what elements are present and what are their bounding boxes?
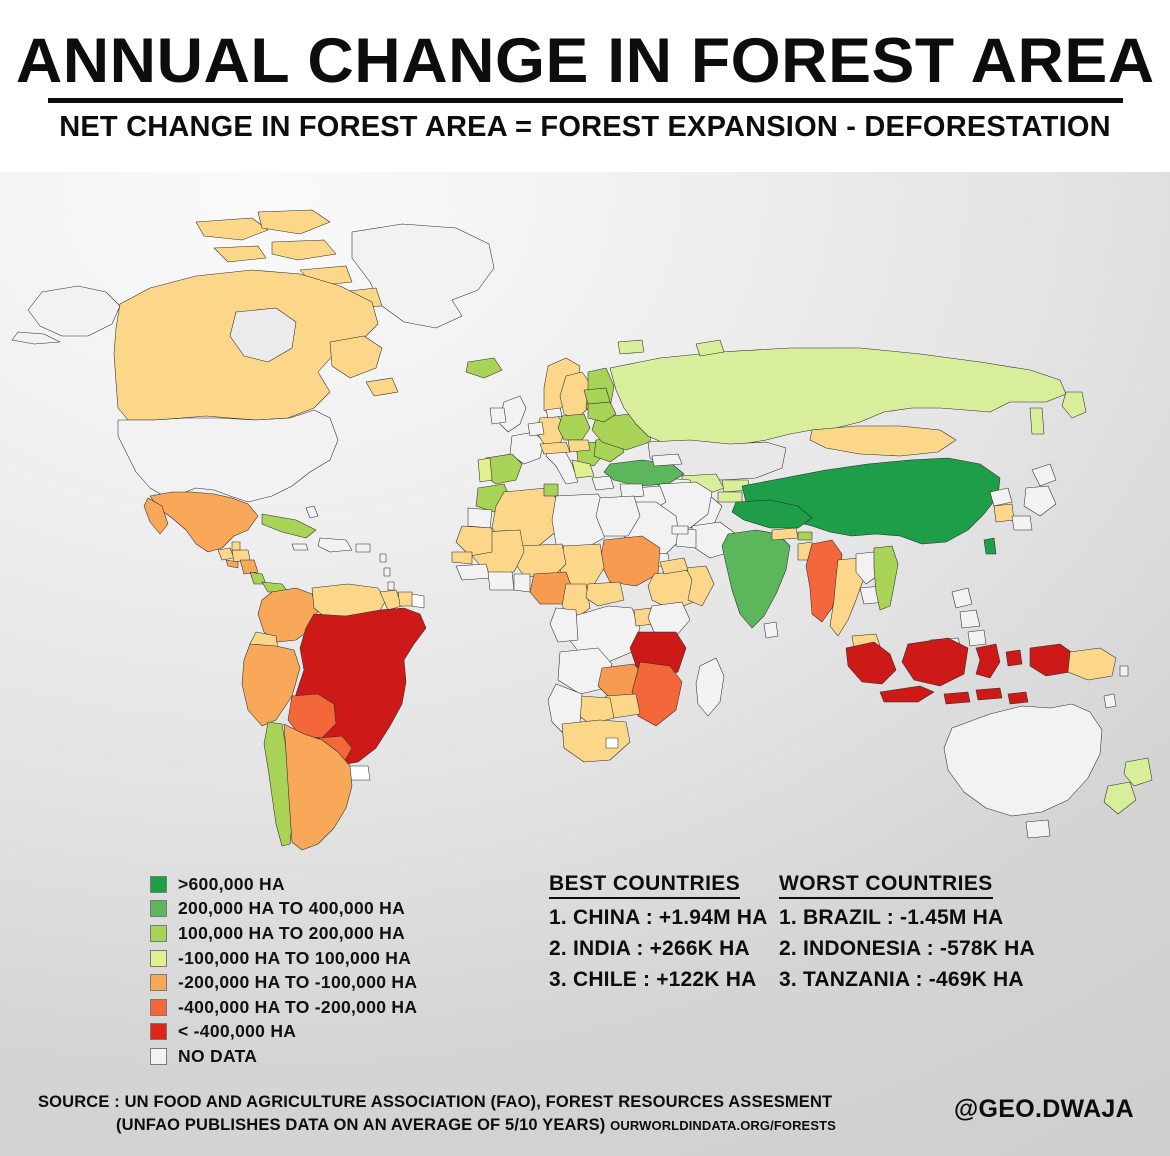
legend-label-under-neg400k: < -400,000 HA (178, 1021, 296, 1042)
country-lesser-antilles-2 (384, 568, 390, 576)
country-japan-2 (1024, 486, 1056, 516)
page-subtitle: NET CHANGE IN FOREST AREA = FOREST EXPAN… (59, 112, 1111, 142)
country-car (586, 582, 624, 606)
country-canada-east (330, 336, 382, 378)
country-canada-arctic-3 (272, 240, 336, 260)
legend-label-no-data: NO DATA (178, 1046, 257, 1067)
country-hungary (568, 440, 590, 452)
legend-label-over-600k: >600,000 HA (178, 874, 285, 895)
country-portugal (478, 458, 492, 482)
header: ANNUAL CHANGE IN FOREST AREA NET CHANGE … (0, 0, 1170, 172)
country-philippines-3 (968, 630, 986, 646)
legend-swatch-neg400k-neg200k (150, 999, 167, 1016)
country-cuba (262, 514, 316, 538)
country-south-africa (562, 720, 630, 762)
source-line-1: SOURCE : UN FOOD AND AGRICULTURE ASSOCIA… (38, 1093, 832, 1112)
best-countries-list: 1. CHINA : +1.94M HA 2. INDIA : +266K HA… (549, 906, 768, 992)
country-poland (558, 414, 590, 440)
country-iceland (466, 358, 502, 378)
country-guinea-region (456, 564, 490, 580)
country-tunisia (544, 484, 558, 496)
worst-countries-panel: WORST COUNTRIES 1. BRAZIL : -1.45M HA 2.… (779, 872, 1035, 992)
legend-item: NO DATA (150, 1044, 417, 1069)
best-countries-heading: BEST COUNTRIES (549, 872, 740, 899)
country-lesser-antilles-3 (388, 582, 394, 590)
country-canada-arctic-4 (214, 246, 266, 262)
country-ghana (514, 574, 530, 592)
legend-swatch-neg200k-neg100k (150, 974, 167, 991)
legend-item: 100,000 HA TO 200,000 HA (150, 921, 417, 946)
country-philippines-2 (960, 610, 980, 628)
country-svalbard (618, 340, 644, 354)
country-pacific-island-1 (1104, 694, 1116, 708)
country-puerto-rico (356, 544, 370, 552)
legend-item: < -400,000 HA (150, 1020, 417, 1045)
country-western-sahara (468, 508, 492, 528)
country-timor (1008, 692, 1028, 704)
country-sakhalin (1030, 408, 1044, 434)
country-indonesia-sulawesi (976, 644, 1000, 678)
worst-country-1: 1. BRAZIL : -1.45M HA (779, 906, 1035, 930)
country-vietnam (874, 546, 898, 610)
legend-item: >600,000 HA (150, 872, 417, 897)
source-url: OURWORLDINDATA.ORG/FORESTS (610, 1118, 836, 1133)
country-newfoundland (366, 378, 398, 396)
map-countries (12, 210, 1152, 850)
source-line-2: (UNFAO PUBLISHES DATA ON AN AVERAGE OF 5… (116, 1116, 836, 1135)
legend-item: 200,000 HA TO 400,000 HA (150, 897, 417, 922)
legend-swatch-100k-200k (150, 925, 167, 942)
country-indonesia-java (880, 686, 934, 702)
country-canada-arctic-2 (258, 210, 330, 234)
legend-swatch-200k-400k (150, 900, 167, 917)
legend-label-neg200k-neg100k: -200,000 HA TO -100,000 HA (178, 972, 417, 993)
country-indonesia-east-1 (944, 692, 970, 704)
legend-label-100k-200k: 100,000 HA TO 200,000 HA (178, 923, 405, 944)
page-title: ANNUAL CHANGE IN FOREST AREA (16, 30, 1155, 92)
country-mozambique (632, 662, 682, 726)
country-indonesia-sumatra (846, 642, 896, 684)
legend-swatch-no-data (150, 1048, 167, 1065)
country-mongolia (810, 426, 956, 456)
legend-item: -200,000 HA TO -100,000 HA (150, 970, 417, 995)
country-jamaica (292, 544, 308, 550)
legend-swatch-neg100k-100k (150, 950, 167, 967)
country-tajikistan (718, 492, 742, 502)
country-new-zealand-north (1124, 758, 1152, 786)
country-kenya (648, 602, 690, 636)
country-lesotho (606, 738, 618, 748)
country-mauritania (456, 526, 492, 556)
country-indonesia-east-2 (976, 688, 1002, 700)
country-sudan (600, 536, 660, 586)
worst-country-3: 3. TANZANIA : -469K HA (779, 968, 1035, 992)
legend-item: -400,000 HA TO -200,000 HA (150, 995, 417, 1020)
country-suriname (398, 592, 414, 606)
legend-item: -100,000 HA TO 100,000 HA (150, 946, 417, 971)
country-bhutan (798, 532, 812, 540)
country-nicaragua (240, 560, 258, 574)
worst-countries-heading: WORST COUNTRIES (779, 872, 993, 899)
country-netherlands-belgium (528, 422, 544, 436)
author-handle: @GEO.DWAJA (954, 1095, 1134, 1124)
source-line-2-text: (UNFAO PUBLISHES DATA ON AN AVERAGE OF 5… (116, 1116, 605, 1134)
legend-label-neg100k-100k: -100,000 HA TO 100,000 HA (178, 948, 411, 969)
best-country-1: 1. CHINA : +1.94M HA (549, 906, 768, 930)
country-gabon-congo (550, 608, 578, 642)
country-ireland (490, 408, 506, 424)
country-swiss-austria (540, 442, 570, 454)
worst-country-2: 2. INDONESIA : -578K HA (779, 937, 1035, 961)
country-taiwan (984, 538, 996, 554)
country-belize (232, 542, 240, 550)
country-sri-lanka (764, 622, 778, 638)
map-legend: >600,000 HA 200,000 HA TO 400,000 HA 100… (150, 872, 417, 1069)
country-lesser-antilles-1 (380, 554, 386, 562)
country-indonesia-maluku (1006, 650, 1022, 666)
country-south-korea (994, 504, 1014, 522)
country-greece (592, 476, 614, 490)
legend-swatch-over-600k (150, 876, 167, 893)
country-australia (944, 704, 1102, 816)
country-new-zealand-south (1104, 782, 1136, 814)
best-country-2: 2. INDIA : +266K HA (549, 937, 768, 961)
country-papua-west (1030, 644, 1074, 676)
country-philippines-1 (952, 588, 972, 608)
country-uae (672, 526, 688, 534)
country-senegal (452, 552, 472, 564)
country-india (722, 530, 790, 628)
country-indonesia-borneo (902, 638, 968, 686)
world-choropleth-map (0, 196, 1170, 856)
country-madagascar (696, 658, 724, 716)
map-svg (0, 196, 1170, 856)
legend-label-200k-400k: 200,000 HA TO 400,000 HA (178, 898, 405, 919)
country-georgia-armenia (652, 454, 682, 466)
country-canada-arctic-1 (196, 218, 268, 240)
country-hispaniola (318, 538, 352, 552)
title-underline (48, 98, 1123, 103)
country-aleutians (12, 332, 60, 344)
country-papua-new-guinea (1068, 648, 1116, 680)
country-alaska (28, 286, 120, 336)
country-japan-3 (1012, 516, 1032, 530)
country-pacific-island-2 (1120, 666, 1128, 676)
country-denmark (546, 408, 562, 418)
country-french-guiana (412, 594, 424, 608)
country-united-states (118, 410, 338, 502)
country-nepal (772, 528, 798, 540)
country-ivory-coast (488, 572, 514, 590)
country-russia-kamchatka (1062, 392, 1086, 418)
legend-label-neg400k-neg200k: -400,000 HA TO -200,000 HA (178, 997, 417, 1018)
country-guatemala (218, 548, 234, 560)
country-baltics (584, 388, 610, 404)
country-bahamas (306, 506, 318, 518)
best-country-3: 3. CHILE : +122K HA (549, 968, 768, 992)
country-japan-1 (1032, 464, 1056, 486)
legend-swatch-under-neg400k (150, 1023, 167, 1040)
worst-countries-list: 1. BRAZIL : -1.45M HA 2. INDONESIA : -57… (779, 906, 1035, 992)
country-tasmania (1026, 820, 1050, 838)
best-countries-panel: BEST COUNTRIES 1. CHINA : +1.94M HA 2. I… (549, 872, 768, 992)
